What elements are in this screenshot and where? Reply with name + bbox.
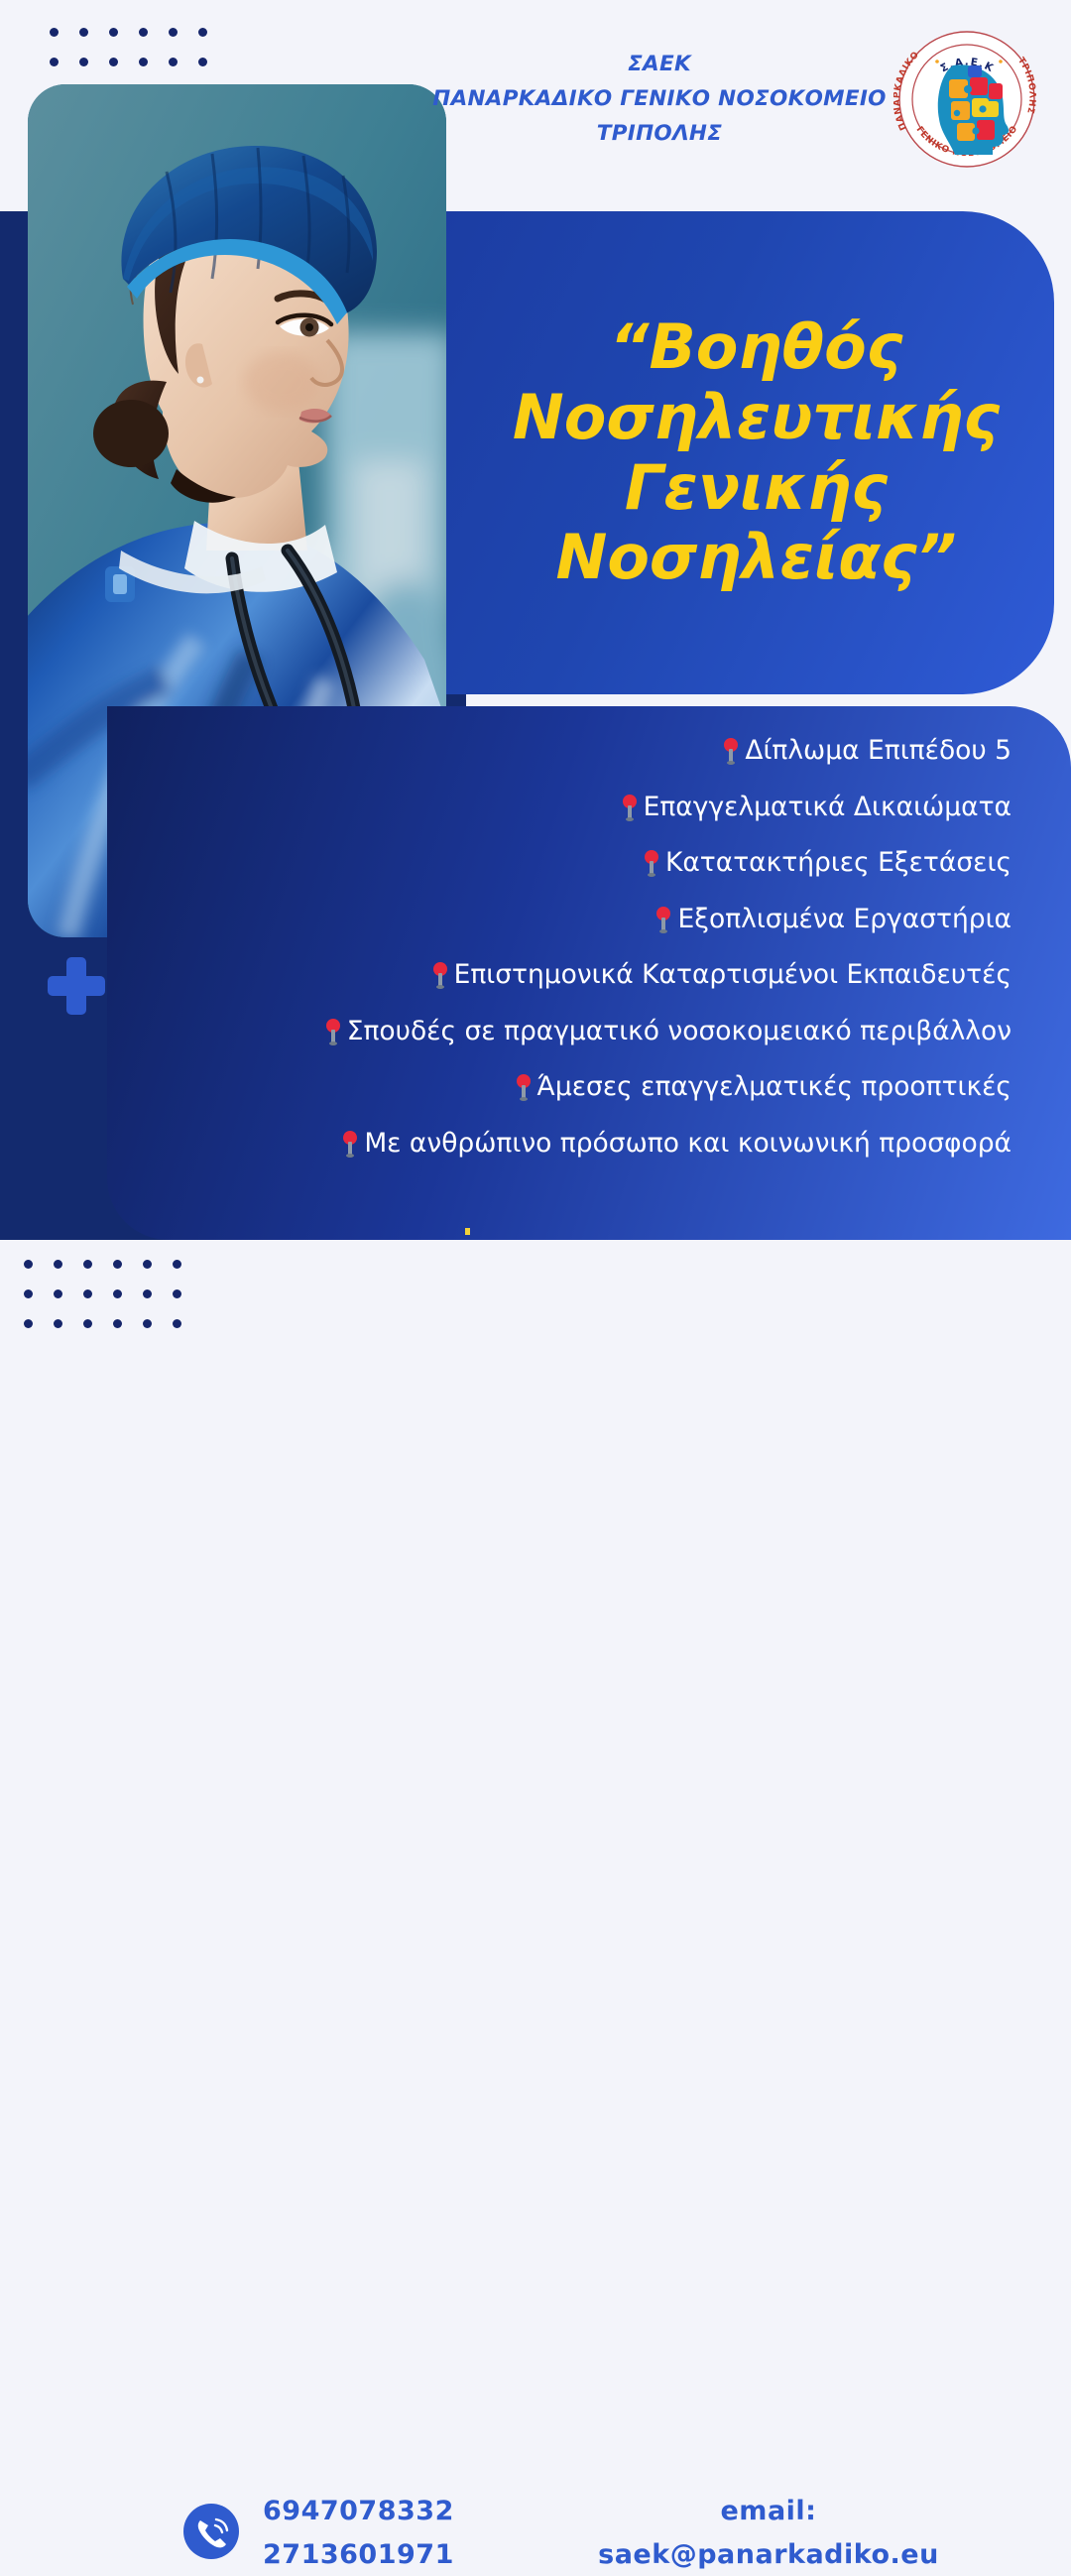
title-line-4: Νοσηλείας” — [470, 523, 1042, 593]
title-line-2: Νοσηλευτικής — [470, 383, 1042, 453]
dot — [198, 28, 207, 37]
map-pin-icon — [723, 738, 739, 764]
map-pin-icon — [622, 795, 638, 820]
hospital-logo: Σ.Α.Ε.Κ ΠΑΝΑΡΚΑΔΙΚΟ ΓΕΝΙΚΟ ΝΟΣΟΚΟΜΕΙΟ ΤΡ… — [893, 22, 1041, 176]
benefit-text: Άμεσες επαγγελματικές προοπτικές — [537, 1071, 1012, 1102]
list-item: Σπουδές σε πραγματικό νοσοκομειακό περιβ… — [258, 1019, 1011, 1045]
poster-canvas: ΣΑΕΚ ΠΑΝΑΡΚΑΔΙΚΟ ΓΕΝΙΚΟ ΝΟΣΟΚΟΜΕΙΟ ΤΡΙΠΟ… — [0, 0, 1071, 1339]
benefits-list: Δίπλωμα Επιπέδου 5 Επαγγελματικά Δικαιώμ… — [258, 738, 1011, 1186]
dot — [198, 58, 207, 66]
dot — [50, 58, 59, 66]
hospital-logo-emblem: Σ.Α.Ε.Κ ΠΑΝΑΡΚΑΔΙΚΟ ΓΕΝΙΚΟ ΝΟΣΟΚΟΜΕΙΟ ΤΡ… — [893, 22, 1041, 176]
email-label: email: — [535, 2490, 1002, 2533]
dot — [50, 28, 59, 37]
cross-horizontal-bar — [48, 976, 105, 996]
benefit-text: Κατατακτήριες Εξετάσεις — [665, 847, 1011, 878]
program-title-panel: “Βοηθός Νοσηλευτικής Γενικής Νοσηλείας” — [446, 211, 1054, 694]
list-item: Επαγγελματικά Δικαιώματα — [258, 795, 1011, 821]
benefit-text: Δίπλωμα Επιπέδου 5 — [745, 735, 1011, 766]
header-line-hospital: ΠΑΝΑΡΚΑΔΙΚΟ ΓΕΝΙΚΟ ΝΟΣΟΚΟΜΕΙΟ — [426, 82, 892, 117]
phone-number-primary[interactable]: 6947078332 — [263, 2490, 560, 2533]
phone-icon[interactable] — [183, 2504, 239, 2559]
header-line-city: ΤΡΙΠΟΛΗΣ — [426, 117, 892, 152]
benefit-text: Επαγγελματικά Δικαιώματα — [644, 792, 1011, 822]
phone-number-secondary[interactable]: 2713601971 — [263, 2533, 560, 2576]
benefit-text: Σπουδές σε πραγματικό νοσοκομειακό περιβ… — [347, 1016, 1011, 1046]
dot — [79, 28, 88, 37]
map-pin-icon — [342, 1131, 358, 1157]
title-line-3: Γενικής — [470, 453, 1042, 524]
dot — [139, 28, 148, 37]
benefit-text: Εξοπλισμένα Εργαστήρια — [677, 904, 1011, 934]
dot — [79, 58, 88, 66]
contact-footer: 6947078332 2713601971 email: saek@panark… — [0, 1242, 1071, 1339]
list-item: Κατατακτήριες Εξετάσεις — [258, 850, 1011, 877]
benefit-text: Με ανθρώπινο πρόσωπο και κοινωνική προσφ… — [364, 1128, 1011, 1159]
organization-header: ΣΑΕΚ ΠΑΝΑΡΚΑΔΙΚΟ ΓΕΝΙΚΟ ΝΟΣΟΚΟΜΕΙΟ ΤΡΙΠΟ… — [426, 48, 892, 151]
phone-numbers: 6947078332 2713601971 — [263, 2490, 560, 2576]
medical-cross-icon — [48, 957, 105, 1015]
list-item: Εξοπλισμένα Εργαστήρια — [258, 907, 1011, 933]
benefits-panel: Δίπλωμα Επιπέδου 5 Επαγγελματικά Δικαιώμ… — [107, 706, 1071, 1240]
list-item: Επιστημονικά Καταρτισμένοι Εκπαιδευτές — [258, 962, 1011, 989]
map-pin-icon — [655, 907, 671, 932]
email-contact: email: saek@panarkadiko.eu — [535, 2490, 1002, 2576]
title-line-1: “Βοηθός — [470, 312, 1042, 383]
phone-icon-glyph — [183, 2504, 239, 2559]
dot — [169, 28, 178, 37]
map-pin-icon — [325, 1019, 341, 1044]
list-item: Με ανθρώπινο πρόσωπο και κοινωνική προσφ… — [258, 1131, 1011, 1158]
benefit-text: Επιστημονικά Καταρτισμένοι Εκπαιδευτές — [454, 959, 1011, 990]
list-item: Άμεσες επαγγελματικές προοπτικές — [258, 1074, 1011, 1101]
email-address[interactable]: saek@panarkadiko.eu — [535, 2533, 1002, 2576]
decorative-yellow-speck — [465, 1228, 470, 1235]
map-pin-icon — [432, 962, 448, 988]
dot — [109, 58, 118, 66]
dot — [139, 58, 148, 66]
header-line-saek: ΣΑΕΚ — [426, 48, 892, 82]
list-item: Δίπλωμα Επιπέδου 5 — [258, 738, 1011, 765]
dot — [169, 58, 178, 66]
program-title: “Βοηθός Νοσηλευτικής Γενικής Νοσηλείας” — [446, 312, 1054, 593]
dot — [109, 28, 118, 37]
map-pin-icon — [644, 850, 659, 876]
map-pin-icon — [516, 1074, 532, 1100]
